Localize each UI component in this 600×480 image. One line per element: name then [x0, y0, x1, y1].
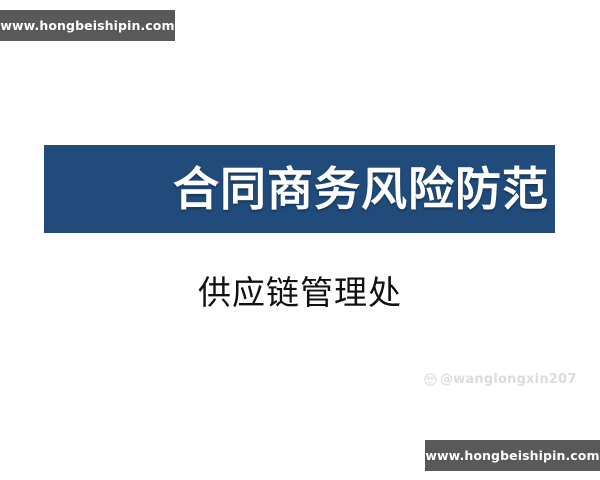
user-watermark-label: @wanglongxin207: [440, 372, 577, 387]
site-watermark-top: www.hongbeishipin.com: [0, 10, 175, 41]
site-watermark-bottom-label: www.hongbeishipin.com: [425, 448, 599, 463]
page-subtitle: 供应链管理处: [0, 274, 600, 312]
title-banner: 合同商务风险防范: [44, 145, 555, 233]
weibo-badge-icon: [424, 373, 437, 386]
user-watermark: @wanglongxin207: [424, 372, 577, 387]
slide-canvas: www.hongbeishipin.com 合同商务风险防范 供应链管理处 @w…: [0, 0, 600, 480]
site-watermark-top-label: www.hongbeishipin.com: [0, 18, 174, 33]
site-watermark-bottom: www.hongbeishipin.com: [425, 440, 600, 471]
page-title: 合同商务风险防范: [173, 166, 555, 212]
